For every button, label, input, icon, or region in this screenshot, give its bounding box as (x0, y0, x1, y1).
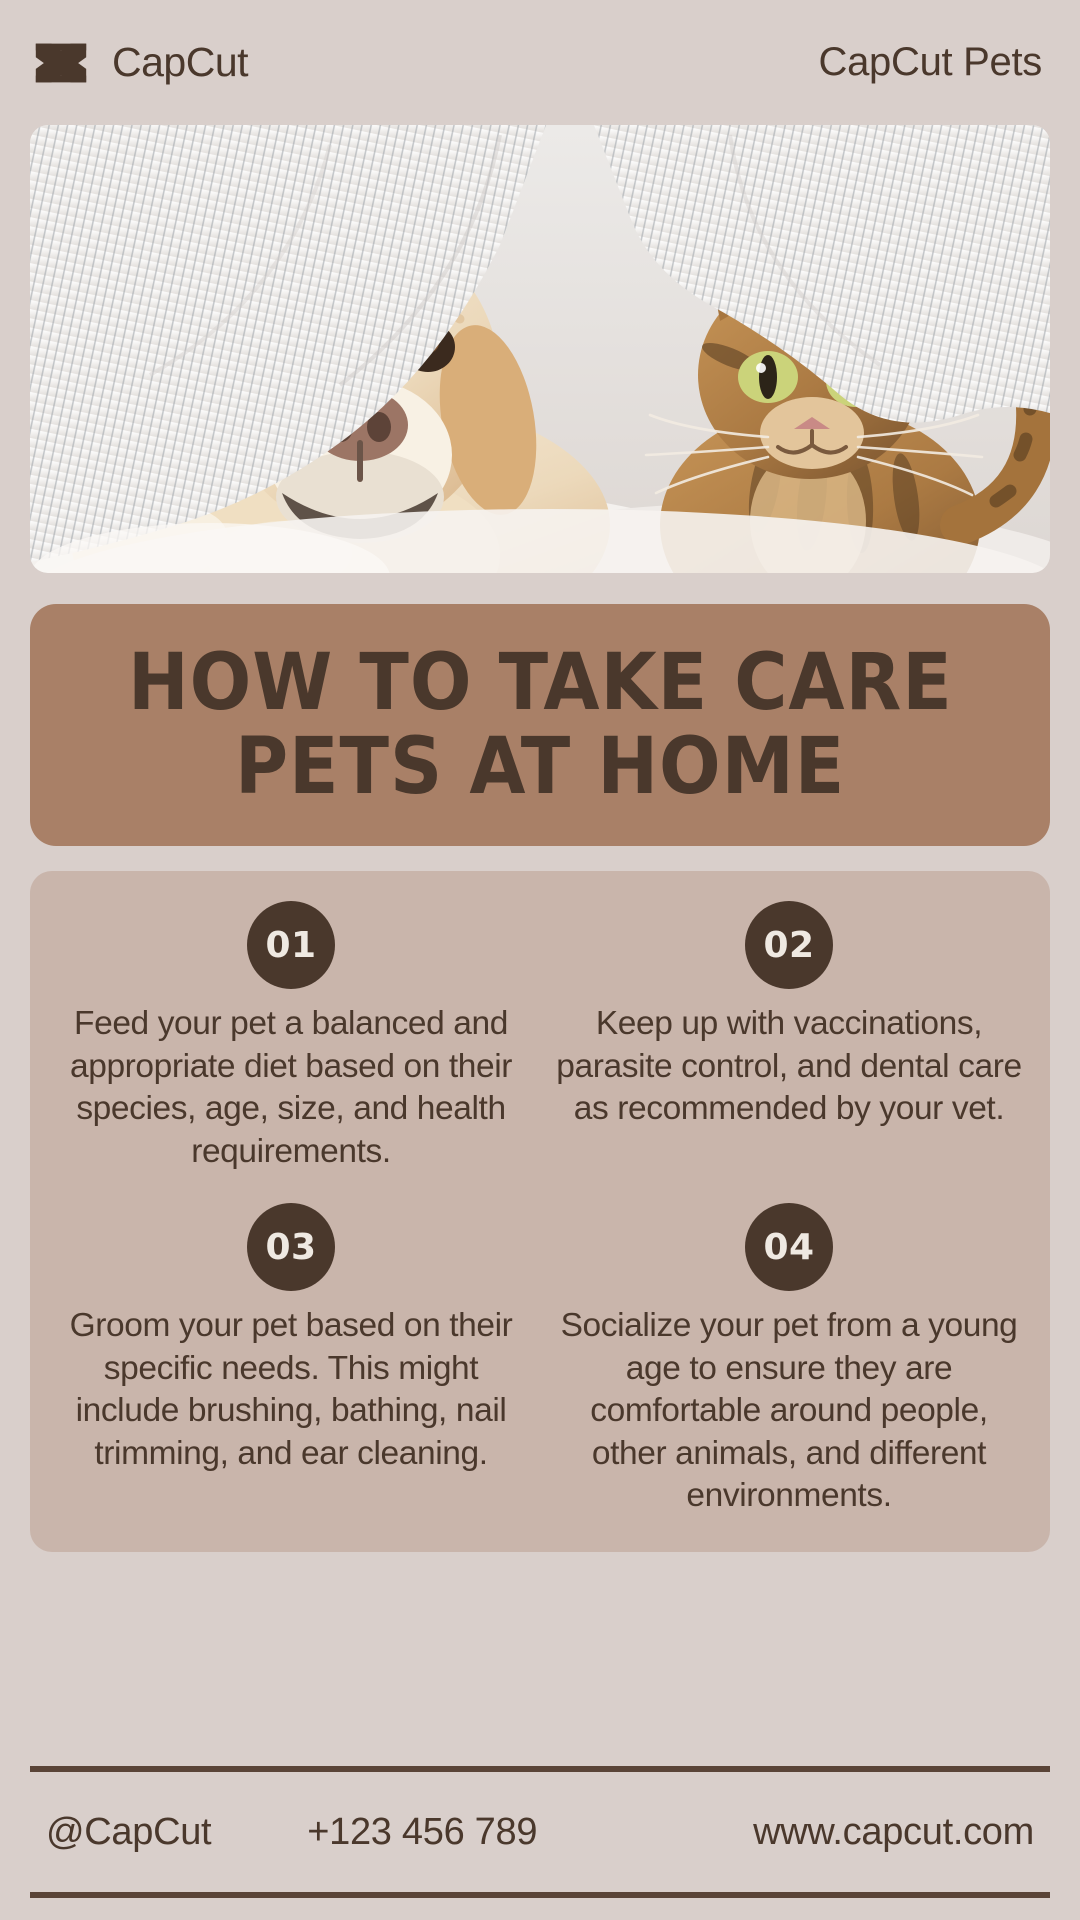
tip-text: Groom your pet based on their specific n… (56, 1305, 526, 1475)
infographic-poster: CapCut CapCut Pets (0, 0, 1080, 1920)
tip-item-03: 03 Groom your pet based on their specifi… (42, 1203, 540, 1518)
footer-section: @CapCut +123 456 789 www.capcut.com (30, 1766, 1050, 1920)
footer-contact-row: @CapCut +123 456 789 www.capcut.com (30, 1772, 1050, 1892)
website-url[interactable]: www.capcut.com (753, 1811, 1050, 1854)
hero-image (30, 125, 1050, 573)
tip-number: 04 (763, 1227, 814, 1268)
tip-number: 02 (763, 925, 814, 966)
capcut-logo-icon (30, 32, 92, 94)
footer-divider-bottom (30, 1892, 1050, 1898)
title-banner: HOW TO TAKE CARE PETS AT HOME (30, 604, 1050, 846)
page-header: CapCut CapCut Pets (30, 0, 1050, 125)
tip-number-badge: 04 (745, 1203, 833, 1291)
title-line-2: PETS AT HOME (235, 725, 845, 809)
tip-number-badge: 03 (247, 1203, 335, 1291)
tip-text: Keep up with vaccinations, parasite cont… (554, 1003, 1024, 1131)
tip-number-badge: 02 (745, 901, 833, 989)
title-line-1: HOW TO TAKE CARE (128, 641, 953, 725)
brand-name: CapCut (112, 39, 248, 86)
brand-block: CapCut (30, 32, 248, 94)
tip-number: 01 (265, 925, 316, 966)
tip-number-badge: 01 (247, 901, 335, 989)
phone-number[interactable]: +123 456 789 (211, 1811, 753, 1854)
tip-text: Feed your pet a balanced and appropriate… (56, 1003, 526, 1173)
tip-number: 03 (265, 1227, 316, 1268)
tip-item-02: 02 Keep up with vaccinations, parasite c… (540, 901, 1038, 1173)
tip-item-04: 04 Socialize your pet from a young age t… (540, 1203, 1038, 1518)
header-right-label: CapCut Pets (819, 40, 1044, 85)
tip-text: Socialize your pet from a young age to e… (554, 1305, 1024, 1518)
social-handle[interactable]: @CapCut (30, 1811, 211, 1854)
tips-panel: 01 Feed your pet a balanced and appropri… (30, 871, 1050, 1552)
tip-item-01: 01 Feed your pet a balanced and appropri… (42, 901, 540, 1173)
